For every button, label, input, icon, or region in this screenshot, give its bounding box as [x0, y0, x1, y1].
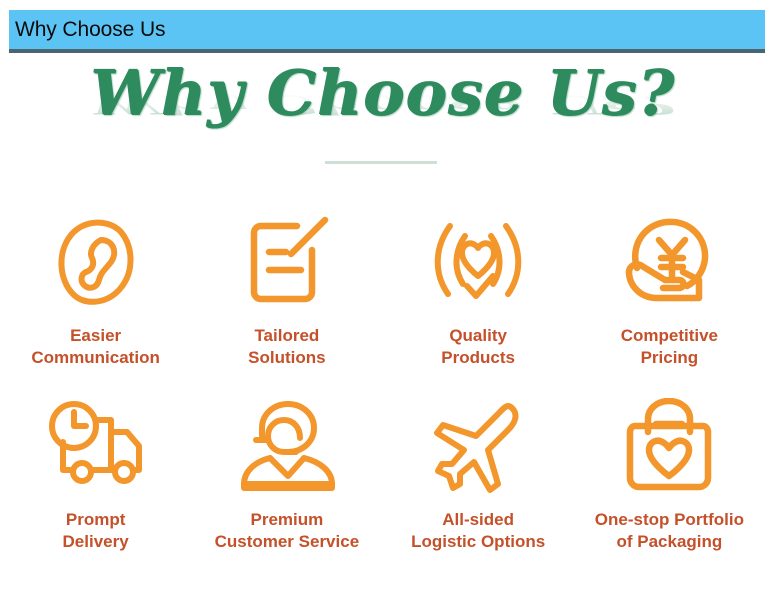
- shopping-bag-heart-icon: [574, 389, 765, 501]
- window-title: Why Choose Us: [15, 19, 165, 40]
- feature-all-sided-logistic-options[interactable]: All-sided Logistic Options: [383, 389, 574, 553]
- heart-signal-check-icon: [383, 200, 574, 320]
- why-choose-us-page: Why Choose Us Why Choose Us? Why Choose …: [0, 0, 765, 599]
- feature-one-stop-portfolio-of-packaging[interactable]: One-stop Portfolio of Packaging: [574, 389, 765, 553]
- feature-label: Quality Products: [383, 325, 574, 369]
- feature-prompt-delivery[interactable]: Prompt Delivery: [0, 389, 191, 553]
- feature-label: All-sided Logistic Options: [383, 509, 574, 553]
- features-row-2: Prompt Delivery Premium Customer Service: [0, 389, 765, 553]
- features-grid: Easier Communication Tailored Solutions: [0, 200, 765, 553]
- headset-agent-icon: [191, 389, 382, 501]
- feature-label: Tailored Solutions: [191, 325, 382, 369]
- section-divider: [325, 161, 437, 164]
- feature-competitive-pricing[interactable]: Competitive Pricing: [574, 200, 765, 369]
- features-row-1: Easier Communication Tailored Solutions: [0, 200, 765, 369]
- hand-holding-yen-coin-icon: [574, 200, 765, 320]
- feature-tailored-solutions[interactable]: Tailored Solutions: [191, 200, 382, 369]
- window-titlebar: Why Choose Us: [9, 10, 765, 53]
- feature-label: Competitive Pricing: [574, 325, 765, 369]
- feature-premium-customer-service[interactable]: Premium Customer Service: [191, 389, 382, 553]
- document-edit-icon: [191, 200, 382, 320]
- feature-label: Premium Customer Service: [191, 509, 382, 553]
- feature-label: One-stop Portfolio of Packaging: [574, 509, 765, 553]
- ear-listening-icon: [0, 200, 191, 320]
- feature-quality-products[interactable]: Quality Products: [383, 200, 574, 369]
- airplane-icon: [383, 389, 574, 501]
- feature-label: Easier Communication: [0, 325, 191, 369]
- delivery-truck-clock-icon: [0, 389, 191, 501]
- feature-label: Prompt Delivery: [0, 509, 191, 553]
- hero-title: Why Choose Us?: [90, 60, 675, 126]
- feature-easier-communication[interactable]: Easier Communication: [0, 200, 191, 369]
- hero-section: Why Choose Us? Why Choose Us?: [0, 60, 765, 168]
- hero-title-wrapper: Why Choose Us? Why Choose Us?: [90, 60, 675, 126]
